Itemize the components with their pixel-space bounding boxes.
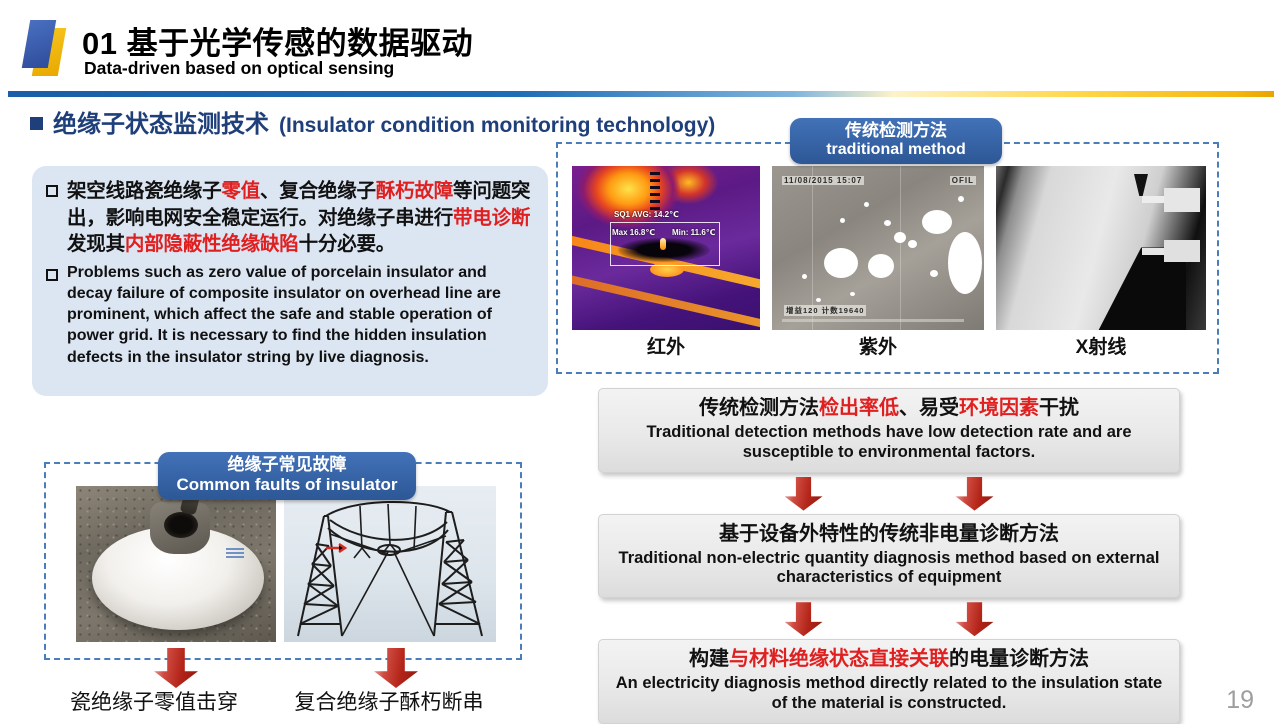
text-run: 、易受 <box>899 397 959 419</box>
uv-corona-speck <box>894 232 906 243</box>
down-arrow-icon <box>956 477 994 511</box>
thermal-insulator-string <box>650 172 660 214</box>
thermal-spot-marker <box>660 238 666 250</box>
uv-corona-speck <box>840 218 845 223</box>
text-run: 环境因素 <box>959 397 1039 419</box>
flow-box-3-en: An electricity diagnosis method directly… <box>613 674 1165 714</box>
down-arrow-icon <box>374 648 418 688</box>
traditional-image-strip: SQ1 AVG: 14.2℃ Max 16.8℃ Min: 11.6℃ 11/0… <box>572 166 1208 330</box>
thermal-photo: SQ1 AVG: 14.2℃ Max 16.8℃ Min: 11.6℃ <box>572 166 760 330</box>
text-run: 酥朽故障 <box>376 180 453 202</box>
flow-box-3: 构建与材料绝缘状态直接关联的电量诊断方法 An electricity diag… <box>598 639 1180 724</box>
traditional-method-badge: 传统检测方法 traditional method <box>790 118 1002 164</box>
flow-box-1-en: Traditional detection methods have low d… <box>613 423 1165 463</box>
uv-mode-label: OFIL <box>950 176 976 185</box>
uv-corona-blob <box>824 248 858 278</box>
insulator-marking <box>226 548 244 560</box>
caption-ultraviolet: 紫外 <box>772 332 984 366</box>
page-number: 19 <box>1226 686 1254 715</box>
text-run: 架空线路瓷绝缘子 <box>67 180 221 202</box>
fault-image-strip <box>76 486 496 642</box>
text-run: 基于设备外特性的传统非电量诊断方法 <box>719 523 1059 545</box>
text-run: 内部隐蔽性绝缘缺陷 <box>125 233 299 255</box>
description-bullet-en: Problems such as zero value of porcelain… <box>46 262 532 368</box>
thermal-max-label: Max 16.8℃ <box>612 228 655 237</box>
flow-box-2-en: Traditional non-electric quantity diagno… <box>613 549 1165 589</box>
fault-badge-cn: 绝缘子常见故障 <box>158 455 416 475</box>
xray-photo <box>996 166 1206 330</box>
uv-scale-bar <box>782 319 964 322</box>
description-panel: 架空线路瓷绝缘子零值、复合绝缘子酥朽故障等问题突出，影响电网安全稳定运行。对绝缘… <box>32 166 548 396</box>
xray-cap-1 <box>1164 188 1200 212</box>
text-run: 检出率低 <box>819 397 899 419</box>
text-run: 发现其 <box>67 233 125 255</box>
uv-edge-line-2 <box>900 166 901 330</box>
page-title-cn: 01 基于光学传感的数据驱动 <box>82 18 473 63</box>
uv-corona-blob <box>868 254 894 278</box>
text-run: 与材料绝缘状态直接关联 <box>729 648 949 670</box>
text-run: 构建 <box>689 648 729 670</box>
flow-box-1-cn: 传统检测方法检出率低、易受环境因素干扰 <box>613 396 1165 421</box>
down-arrow-icon <box>785 602 823 636</box>
traditional-method-panel: SQ1 AVG: 14.2℃ Max 16.8℃ Min: 11.6℃ 11/0… <box>556 142 1219 374</box>
infrared-thermal-image: SQ1 AVG: 14.2℃ Max 16.8℃ Min: 11.6℃ <box>572 166 760 330</box>
uv-corona-speck <box>802 274 807 279</box>
text-run: 零值 <box>221 180 260 202</box>
ultraviolet-corona-image: 11/08/2015 15:07 OFIL 增益120 计数19640 <box>772 166 984 330</box>
text-run: 十分必要。 <box>299 233 396 255</box>
down-arrow-icon <box>956 602 994 636</box>
insulator-puncture-hole <box>164 512 198 538</box>
caption-infrared: 红外 <box>572 332 760 366</box>
section-heading-cn: 绝缘子状态监测技术 <box>53 104 269 139</box>
text-run: 干扰 <box>1039 397 1079 419</box>
uv-corona-speck <box>884 220 891 226</box>
down-arrow-icon <box>785 477 823 511</box>
text-run: 传统检测方法 <box>699 397 819 419</box>
uv-corona-speck <box>816 298 821 302</box>
uv-photo: 11/08/2015 15:07 OFIL 增益120 计数19640 <box>772 166 984 330</box>
fault-caption-composite: 复合绝缘子酥朽断串 <box>264 686 514 716</box>
flow-box-2-cn: 基于设备外特性的传统非电量诊断方法 <box>613 522 1165 547</box>
uv-corona-blob <box>948 232 982 294</box>
down-arrow-icon <box>154 648 198 688</box>
header-divider <box>8 91 1274 97</box>
hollow-square-bullet-icon <box>46 269 58 281</box>
tower-lattice-drawing <box>284 486 496 642</box>
description-text-en: Problems such as zero value of porcelain… <box>67 262 532 368</box>
uv-corona-blob <box>922 210 952 234</box>
description-bullet-cn: 架空线路瓷绝缘子零值、复合绝缘子酥朽故障等问题突出，影响电网安全稳定运行。对绝缘… <box>46 178 532 258</box>
traditional-badge-en: traditional method <box>790 141 1002 159</box>
thermal-min-label: Min: 11.6℃ <box>672 228 715 237</box>
uv-corona-speck <box>908 240 917 248</box>
text-run: 的电量诊断方法 <box>949 648 1089 670</box>
hollow-square-bullet-icon <box>46 185 58 197</box>
thermal-avg-label: SQ1 AVG: 14.2℃ <box>614 210 679 219</box>
xray-radiograph-image <box>996 166 1206 330</box>
traditional-badge-cn: 传统检测方法 <box>790 121 1002 141</box>
fault-badge-en: Common faults of insulator <box>158 475 416 495</box>
xray-pin-1 <box>1142 196 1164 203</box>
caption-xray: X射线 <box>996 332 1206 366</box>
flow-arrows-2 <box>598 598 1180 639</box>
slide-root: 01 基于光学传感的数据驱动 Data-driven based on opti… <box>0 0 1280 723</box>
conclusion-flowchart: 传统检测方法检出率低、易受环境因素干扰 Traditional detectio… <box>598 388 1180 724</box>
common-faults-badge: 绝缘子常见故障 Common faults of insulator <box>158 452 416 500</box>
traditional-caption-row: 红外 紫外 X射线 <box>572 332 1208 366</box>
xray-pin-neck <box>1134 174 1148 196</box>
transmission-tower-photo <box>284 486 496 642</box>
page-title-en: Data-driven based on optical sensing <box>84 58 394 79</box>
uv-corona-speck <box>864 202 869 207</box>
uv-corona-speck <box>958 196 964 202</box>
flow-box-2: 基于设备外特性的传统非电量诊断方法 Traditional non-electr… <box>598 514 1180 599</box>
uv-timestamp-label: 11/08/2015 15:07 <box>782 176 864 185</box>
description-text-cn: 架空线路瓷绝缘子零值、复合绝缘子酥朽故障等问题突出，影响电网安全稳定运行。对绝缘… <box>67 178 532 258</box>
slide-header: 01 基于光学传感的数据驱动 Data-driven based on opti… <box>0 0 1280 92</box>
uv-parameters-label: 增益120 计数19640 <box>784 305 866 316</box>
square-bullet-icon <box>30 117 43 130</box>
parallelogram-logo-icon <box>22 18 74 78</box>
xray-pin-2 <box>1142 248 1164 255</box>
porcelain-insulator-photo <box>76 486 276 642</box>
uv-corona-speck <box>850 292 855 296</box>
text-run: 、复合绝缘子 <box>260 180 376 202</box>
flow-box-3-cn: 构建与材料绝缘状态直接关联的电量诊断方法 <box>613 647 1165 672</box>
uv-corona-speck <box>930 270 938 277</box>
text-run: 带电诊断 <box>453 207 530 229</box>
xray-cap-2 <box>1164 240 1200 262</box>
section-heading-en: (Insulator condition monitoring technolo… <box>279 114 715 138</box>
fault-caption-row: 瓷绝缘子零值击穿 复合绝缘子酥朽断串 <box>44 686 564 716</box>
flow-box-1: 传统检测方法检出率低、易受环境因素干扰 Traditional detectio… <box>598 388 1180 473</box>
fault-caption-porcelain: 瓷绝缘子零值击穿 <box>44 686 264 716</box>
flow-arrows-1 <box>598 473 1180 514</box>
section-heading: 绝缘子状态监测技术 (Insulator condition monitorin… <box>30 104 715 139</box>
